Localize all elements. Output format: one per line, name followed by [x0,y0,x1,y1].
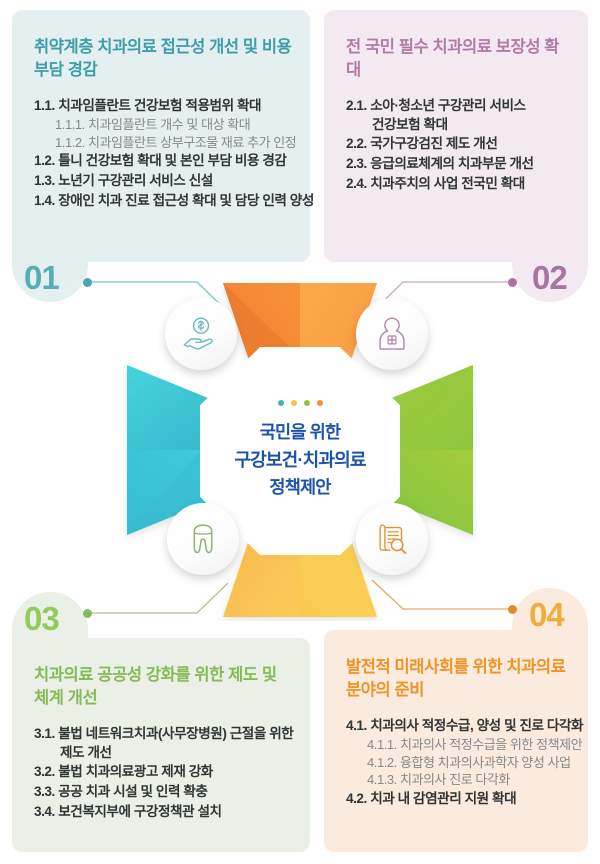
panel-items-01: 1.1. 치과임플란트 건강보험 적용범위 확대 1.1.1. 치과임플란트 개… [34,97,294,211]
quadrant-panel-03[interactable]: 치과의료 공공성 강화를 위한 제도 및 체계 개선 3.1. 불법 네트워크치… [12,638,310,852]
list-item: 2.4. 치과주치의 사업 전국민 확대 [346,175,572,194]
list-item: 3.2. 불법 치과의료광고 제재 강화 [34,763,294,782]
list-item: 3.4. 보건복지부에 구강정책관 설치 [34,803,294,822]
list-item: 4.2. 치과 내 감염관리 지원 확대 [346,790,572,809]
number-label-01: 01 [24,261,59,294]
connector-dot-04 [508,605,517,614]
center-title-line-3: 정책제안 [234,474,365,501]
hub-dots [278,400,323,406]
quadrant-panel-04[interactable]: 발전적 미래사회를 위한 치과의료 분야의 준비 4.1. 치과의사 적정수급,… [324,630,588,852]
list-item: 1.1. 치과임플란트 건강보험 적용범위 확대 [34,97,294,116]
list-item: 4.1.2. 융합형 치과의사과학자 양성 사업 [346,754,572,772]
list-item: 4.1.1. 치과의사 적정수급을 위한 정책제안 [346,736,572,754]
icon-bubble-tooth[interactable] [167,503,239,575]
list-item-text: 2.1. 소아·청소년 구강관리 서비스 [346,98,526,113]
hub-dot-3 [304,400,310,406]
connector-dot-02 [508,278,517,287]
quadrant-panel-01[interactable]: 취약계층 치과의료 접근성 개선 및 비용부담 경감 1.1. 치과임플란트 건… [12,10,310,262]
panel-title-02: 전 국민 필수 치과의료 보장성 확대 [346,36,572,83]
icon-bubble-money[interactable] [165,298,237,370]
icon-bubble-person[interactable] [356,298,428,370]
list-item: 4.1.3. 치과의사 진로 다각화 [346,771,572,789]
connector-dot-03 [83,609,92,618]
number-label-04: 04 [529,598,564,631]
center-title: 국민을 위한 구강보건·치과의료 정책제안 [234,419,365,501]
number-label-03: 03 [24,602,59,635]
list-item-text: 3.1. 불법 네트워크치과(사무장병원) 근절을 위한 [34,726,293,741]
list-item: 3.1. 불법 네트워크치과(사무장병원) 근절을 위한 제도 개선 [34,725,294,763]
list-item: 1.4. 장애인 치과 진료 접근성 확대 및 담당 인력 양성 [34,192,294,211]
connector-dot-01 [83,278,92,287]
panel-items-02: 2.1. 소아·청소년 구강관리 서비스 건강보험 확대 2.2. 국가구강검진… [346,97,572,194]
panel-items-04: 4.1. 치과의사 적정수급, 양성 및 진로 다각화 4.1.1. 치과의사 … [346,717,572,809]
center-title-line-1: 국민을 위한 [234,419,365,446]
list-item: 4.1. 치과의사 적정수급, 양성 및 진로 다각화 [346,717,572,736]
list-item-continuation: 제도 개선 [34,744,294,763]
hub-dot-1 [278,400,284,406]
panel-items-03: 3.1. 불법 네트워크치과(사무장병원) 근절을 위한 제도 개선 3.2. … [34,725,294,822]
hub-dot-4 [317,400,323,406]
list-item: 2.3. 응급의료체계의 치과부문 개선 [346,155,572,174]
center-pinwheel-graphic: 국민을 위한 구강보건·치과의료 정책제안 [123,279,477,621]
icon-bubble-document-search[interactable] [356,503,428,575]
list-item: 2.2. 국가구강검진 제도 개선 [346,135,572,154]
list-item: 3.3. 공공 치과 시설 및 인력 확충 [34,783,294,802]
panel-title-01: 취약계층 치과의료 접근성 개선 및 비용부담 경감 [34,36,294,83]
document-magnifier-icon [373,520,411,558]
panel-title-04: 발전적 미래사회를 위한 치과의료 분야의 준비 [346,656,572,703]
list-item: 1.2. 틀니 건강보험 확대 및 본인 부담 비용 경감 [34,152,294,171]
person-medical-cross-icon [373,315,411,353]
list-item: 2.1. 소아·청소년 구강관리 서비스 건강보험 확대 [346,97,572,135]
hand-holding-money-icon [181,314,221,354]
list-item: 1.3. 노년기 구강관리 서비스 신설 [34,172,294,191]
center-title-line-2: 구강보건·치과의료 [234,447,365,475]
list-item: 1.1.1. 치과임플란트 개수 및 대상 확대 [34,116,294,134]
list-item-continuation: 건강보험 확대 [346,116,572,135]
hub-dot-2 [291,400,297,406]
panel-title-03: 치과의료 공공성 강화를 위한 제도 및 체계 개선 [34,664,294,711]
number-label-02: 02 [532,261,567,294]
list-item: 1.1.2. 치과임플란트 상부구조물 재료 추가 인정 [34,134,294,152]
tooth-icon [184,520,222,558]
quadrant-panel-02[interactable]: 전 국민 필수 치과의료 보장성 확대 2.1. 소아·청소년 구강관리 서비스… [324,10,588,262]
infographic-root: 취약계층 치과의료 접근성 개선 및 비용부담 경감 1.1. 치과임플란트 건… [0,0,600,864]
